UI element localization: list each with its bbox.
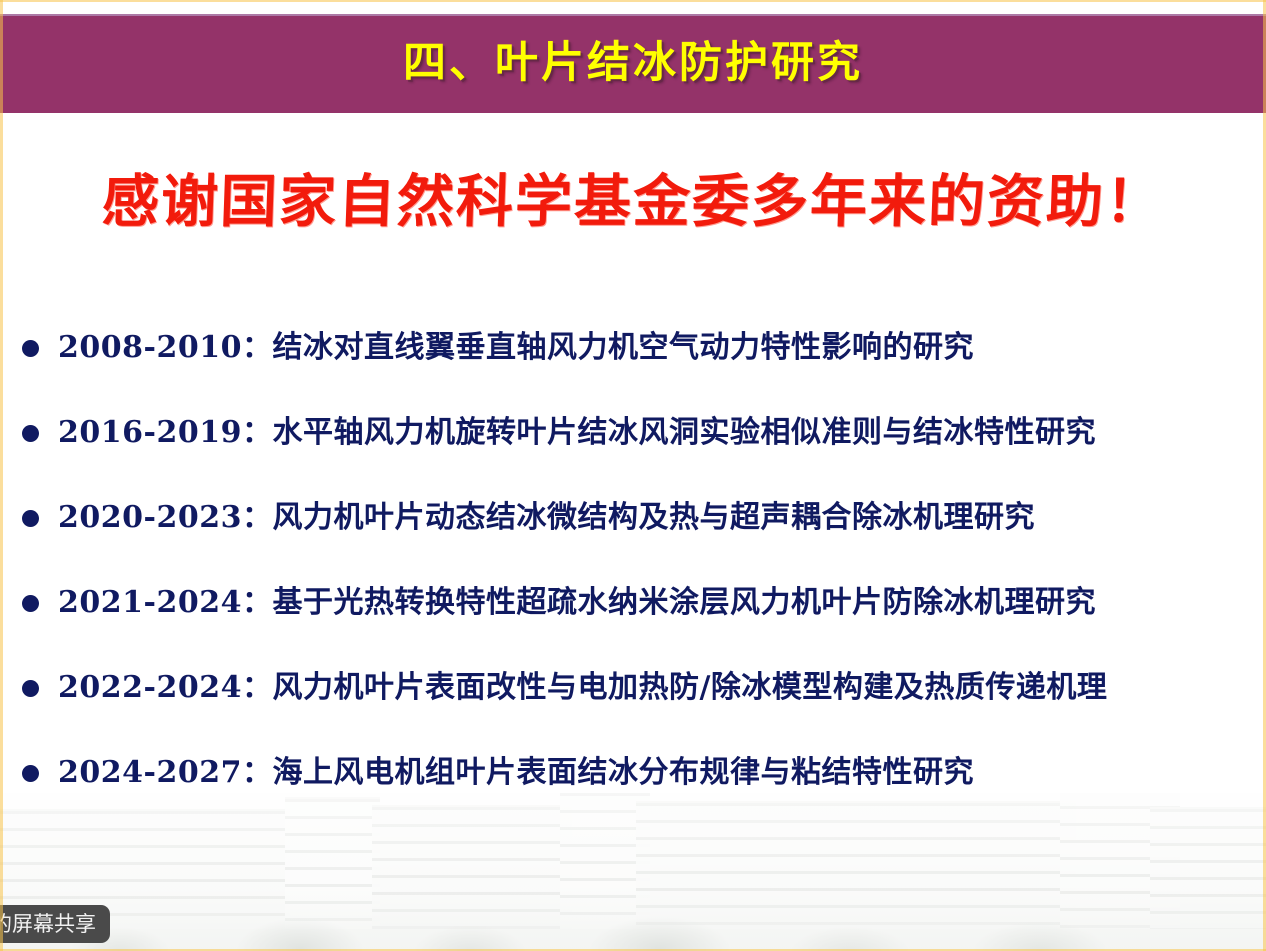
screen-share-label: 电的屏幕共享 <box>0 914 96 935</box>
list-item: 2021-2024：基于光热转换特性超疏水纳米涂层风力机叶片防除冰机理研究 <box>22 560 1252 645</box>
slide-frame-top <box>0 0 1266 2</box>
list-item-text: 2024-2027：海上风电机组叶片表面结冰分布规律与粘结特性研究 <box>58 756 974 789</box>
slide-title: 四、叶片结冰防护研究 <box>403 42 863 85</box>
acknowledgement-headline: 感谢国家自然科学基金委多年来的资助！ <box>101 170 1165 234</box>
project-list: 2008-2010：结冰对直线翼垂直轴风力机空气动力特性影响的研究 2016-2… <box>22 305 1252 815</box>
list-item-text: 2021-2024：基于光热转换特性超疏水纳米涂层风力机叶片防除冰机理研究 <box>58 586 1096 619</box>
list-item: 2024-2027：海上风电机组叶片表面结冰分布规律与粘结特性研究 <box>22 730 1252 815</box>
presentation-slide: 四、叶片结冰防护研究 感谢国家自然科学基金委多年来的资助！ 2008-2010：… <box>0 0 1266 951</box>
bullet-dot-icon <box>22 340 39 357</box>
photo-fade-overlay <box>0 793 1266 951</box>
bullet-dot-icon <box>22 680 39 697</box>
list-item-text: 2008-2010：结冰对直线翼垂直轴风力机空气动力特性影响的研究 <box>58 331 974 364</box>
bullet-dot-icon <box>22 510 39 527</box>
campus-photo <box>0 793 1266 951</box>
slide-header-banner: 四、叶片结冰防护研究 <box>0 14 1266 113</box>
screen-share-badge: 电的屏幕共享 <box>0 905 110 943</box>
list-item-text: 2022-2024：风力机叶片表面改性与电加热防/除冰模型构建及热质传递机理 <box>58 671 1107 704</box>
bullet-dot-icon <box>22 425 39 442</box>
list-item-text: 2020-2023：风力机叶片动态结冰微结构及热与超声耦合除冰机理研究 <box>58 501 1035 534</box>
bullet-dot-icon <box>22 595 39 612</box>
headline-container: 感谢国家自然科学基金委多年来的资助！ <box>0 170 1266 234</box>
list-item-text: 2016-2019：水平轴风力机旋转叶片结冰风洞实验相似准则与结冰特性研究 <box>58 416 1096 449</box>
bullet-dot-icon <box>22 765 39 782</box>
list-item: 2008-2010：结冰对直线翼垂直轴风力机空气动力特性影响的研究 <box>22 305 1252 390</box>
list-item: 2022-2024：风力机叶片表面改性与电加热防/除冰模型构建及热质传递机理 <box>22 645 1252 730</box>
list-item: 2016-2019：水平轴风力机旋转叶片结冰风洞实验相似准则与结冰特性研究 <box>22 390 1252 475</box>
list-item: 2020-2023：风力机叶片动态结冰微结构及热与超声耦合除冰机理研究 <box>22 475 1252 560</box>
